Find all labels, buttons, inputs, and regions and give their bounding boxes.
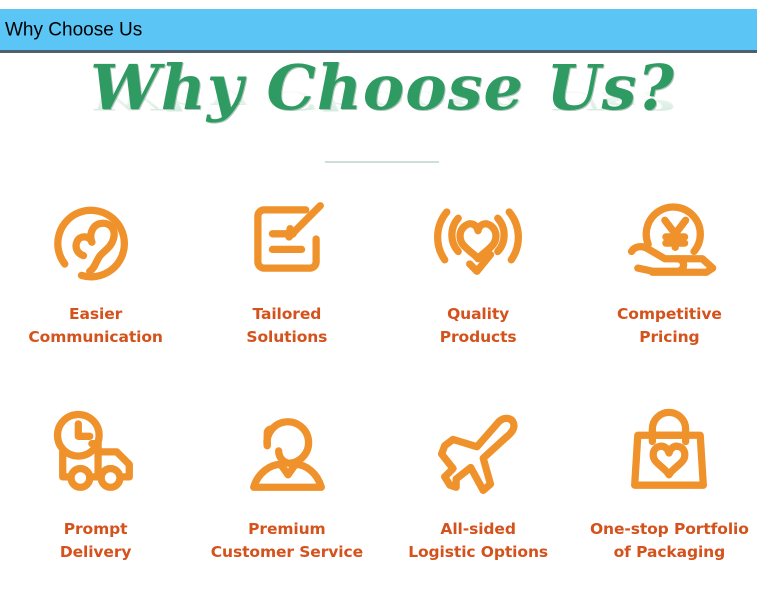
hero-banner: Why Choose Us? Why Choose Us?	[0, 53, 765, 165]
feature-item-tailored-solutions[interactable]: Tailored Solutions	[191, 181, 382, 396]
document-pencil-icon	[235, 187, 339, 291]
feature-grid: Easier Communication Tailored Solutions	[0, 181, 765, 611]
page-content: Why Choose Us? Why Choose Us? Easier Com…	[0, 53, 765, 599]
feature-label: Tailored Solutions	[246, 303, 327, 349]
title-divider	[325, 161, 439, 163]
feature-label: Premium Customer Service	[211, 518, 363, 564]
feature-label: Prompt Delivery	[60, 518, 132, 564]
headset-agent-icon	[235, 402, 339, 506]
window-title: Why Choose Us	[5, 20, 142, 39]
feature-item-quality-products[interactable]: Quality Products	[383, 181, 574, 396]
ear-listening-icon	[44, 187, 148, 291]
page-title-reflection: Why Choose Us?	[90, 87, 675, 114]
feature-label: All-sided Logistic Options	[408, 518, 548, 564]
airplane-icon	[426, 402, 530, 506]
feature-label: Competitive Pricing	[617, 303, 722, 349]
feature-label: One-stop Portfolio of Packaging	[590, 518, 749, 564]
delivery-truck-clock-icon	[44, 402, 148, 506]
feature-item-competitive-pricing[interactable]: Competitive Pricing	[574, 181, 765, 396]
feature-item-all-sided-logistic-options[interactable]: All-sided Logistic Options	[383, 396, 574, 611]
feature-item-easier-communication[interactable]: Easier Communication	[0, 181, 191, 396]
hand-yen-coin-icon	[617, 187, 721, 291]
feature-item-one-stop-portfolio-of-packaging[interactable]: One-stop Portfolio of Packaging	[574, 396, 765, 611]
feature-label: Quality Products	[440, 303, 517, 349]
feature-label: Easier Communication	[28, 303, 162, 349]
shopping-bag-heart-icon	[617, 402, 721, 506]
feature-item-prompt-delivery[interactable]: Prompt Delivery	[0, 396, 191, 611]
window-title-bar: Why Choose Us	[0, 9, 757, 53]
feature-item-premium-customer-service[interactable]: Premium Customer Service	[191, 396, 382, 611]
heart-waves-check-icon	[426, 187, 530, 291]
